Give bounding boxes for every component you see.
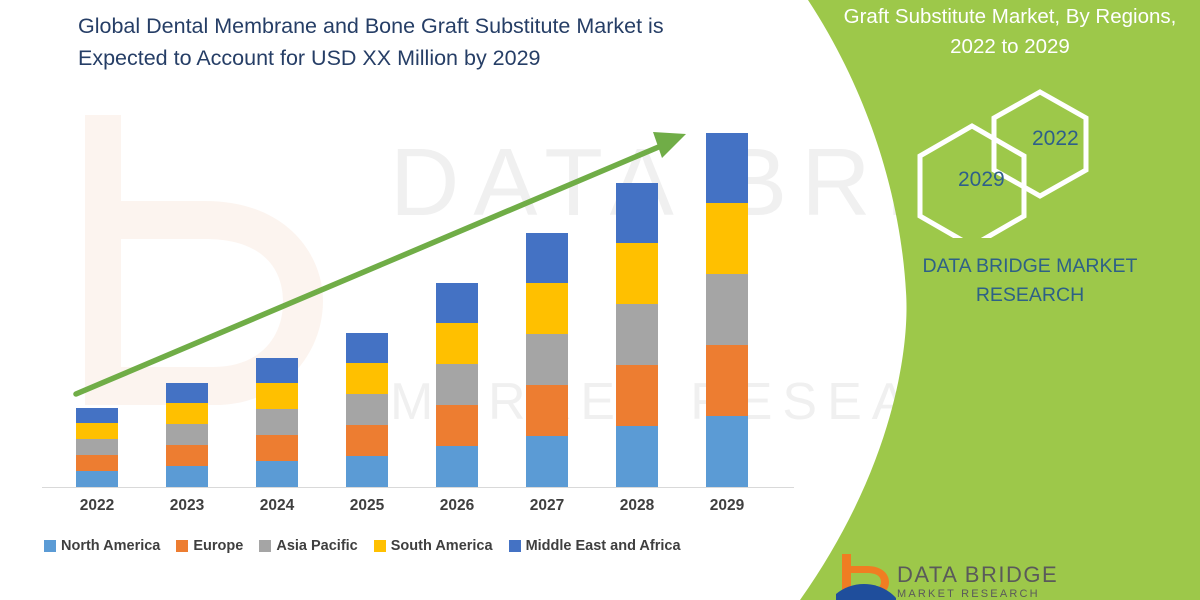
legend-swatch-icon [176, 540, 188, 552]
footer-logo-subtext: MARKET RESEARCH [897, 588, 1040, 600]
legend-item-south-america[interactable]: South America [374, 538, 493, 554]
panel-heading: Graft Substitute Market, By Regions, 202… [820, 2, 1200, 62]
data-bridge-logo-icon [836, 552, 896, 600]
legend-item-middle-east-and-africa[interactable]: Middle East and Africa [509, 538, 681, 554]
legend-item-europe[interactable]: Europe [176, 538, 243, 554]
stacked-bar-chart: 20222023202420252026202720282029 [0, 0, 810, 600]
growth-arrow [0, 0, 810, 600]
legend-swatch-icon [374, 540, 386, 552]
brand-line-2: RESEARCH [880, 281, 1180, 310]
legend-label: Middle East and Africa [526, 538, 681, 554]
brand-name: DATA BRIDGE MARKET RESEARCH [880, 252, 1180, 310]
legend-swatch-icon [509, 540, 521, 552]
brand-line-1: DATA BRIDGE MARKET [923, 255, 1138, 277]
hexagon-pair [900, 88, 1130, 238]
infographic-canvas: DATA BRIDGE MARKET RESEARCH Global Denta… [0, 0, 1200, 600]
legend-item-asia-pacific[interactable]: Asia Pacific [259, 538, 357, 554]
legend-swatch-icon [259, 540, 271, 552]
legend-label: South America [391, 538, 493, 554]
hexagon-2029-label: 2029 [958, 168, 1005, 192]
legend-label: Asia Pacific [276, 538, 357, 554]
panel-heading-line-2: 2022 to 2029 [820, 32, 1200, 62]
legend-label: Europe [193, 538, 243, 554]
panel-heading-line-1: Graft Substitute Market, By Regions, [844, 5, 1177, 28]
chart-legend: North AmericaEuropeAsia PacificSouth Ame… [44, 538, 681, 554]
legend-swatch-icon [44, 540, 56, 552]
legend-label: North America [61, 538, 160, 554]
legend-item-north-america[interactable]: North America [44, 538, 160, 554]
footer-logo-text: DATA BRIDGE [897, 562, 1058, 588]
hexagon-2022-label: 2022 [1032, 127, 1079, 151]
